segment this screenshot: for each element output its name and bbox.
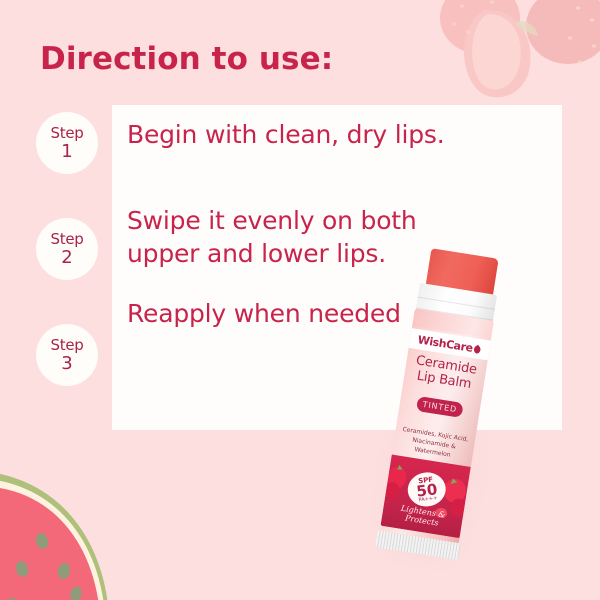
step-badge-label: Step: [51, 126, 84, 141]
step-badge-number: 1: [61, 143, 72, 161]
leaf-icon: [473, 344, 482, 354]
step-badge-2: Step 2: [36, 218, 98, 280]
poster-canvas: Direction to use: Step 1 Step 2 Step 3 B…: [0, 0, 600, 600]
step-badge-1: Step 1: [36, 112, 98, 174]
page-title: Direction to use:: [40, 41, 333, 77]
step-badge-label: Step: [51, 338, 84, 353]
step-badge-number: 3: [61, 355, 72, 373]
strawberries-icon: [418, 0, 600, 104]
variant-badge: TINTED: [416, 396, 464, 418]
step-instruction-1: Begin with clean, dry lips.: [127, 118, 527, 151]
step-badge-label: Step: [51, 232, 84, 247]
steps-column: Step 1 Step 2 Step 3: [36, 112, 112, 386]
step-spacer: [36, 280, 112, 324]
spf-pa-rating: PA+++: [418, 496, 437, 503]
brand-name: WishCare: [417, 333, 474, 355]
step-badge-number: 2: [61, 249, 72, 267]
watermelon-icon: [0, 431, 175, 600]
fruit-strip: SPF 50 PA+++ Lightens & Protects: [381, 455, 471, 539]
step-spacer: [36, 174, 112, 218]
step-badge-3: Step 3: [36, 324, 98, 386]
